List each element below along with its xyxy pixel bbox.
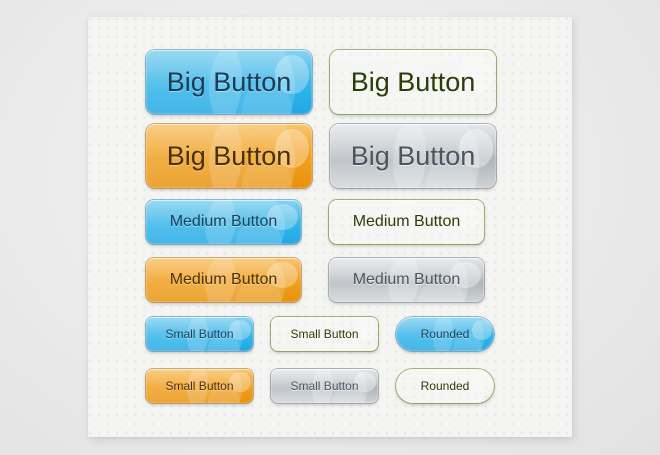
big-button-green-label: Big Button	[351, 67, 476, 98]
medium-button-orange-label: Medium Button	[170, 271, 278, 289]
small-button-blue[interactable]: Small Button	[146, 317, 253, 351]
medium-button-blue[interactable]: Medium Button	[146, 200, 301, 244]
medium-button-blue-label: Medium Button	[170, 213, 278, 231]
small-button-row-1: Small Button Small Button Rounded	[146, 317, 494, 351]
big-button-gray[interactable]: Big Button	[330, 124, 496, 188]
rounded-button-green-label: Rounded	[421, 379, 470, 393]
big-button-gray-label: Big Button	[351, 141, 476, 172]
small-button-orange-label: Small Button	[165, 379, 233, 393]
small-button-row-2: Small Button Small Button Rounded	[146, 369, 494, 403]
medium-button-orange[interactable]: Medium Button	[146, 258, 301, 302]
big-button-orange[interactable]: Big Button	[146, 124, 312, 188]
rounded-button-blue-label: Rounded	[421, 327, 470, 341]
medium-button-green[interactable]: Medium Button	[329, 200, 484, 244]
big-button-row-1: Big Button Big Button	[146, 50, 496, 114]
rounded-button-blue[interactable]: Rounded	[396, 317, 494, 351]
small-button-green-label: Small Button	[290, 327, 358, 341]
medium-button-row-1: Medium Button Medium Button	[146, 200, 484, 244]
big-button-blue[interactable]: Big Button	[146, 50, 312, 114]
small-button-gray[interactable]: Small Button	[271, 369, 378, 403]
medium-button-row-2: Medium Button Medium Button	[146, 258, 484, 302]
big-button-row-2: Big Button Big Button	[146, 124, 496, 188]
small-button-green[interactable]: Small Button	[271, 317, 378, 351]
big-button-green[interactable]: Big Button	[330, 50, 496, 114]
medium-button-gray-label: Medium Button	[353, 271, 461, 289]
big-button-blue-label: Big Button	[167, 67, 292, 98]
small-button-orange[interactable]: Small Button	[146, 369, 253, 403]
big-button-orange-label: Big Button	[167, 141, 292, 172]
medium-button-green-label: Medium Button	[353, 213, 461, 231]
rounded-button-green[interactable]: Rounded	[396, 369, 494, 403]
small-button-blue-label: Small Button	[165, 327, 233, 341]
medium-button-gray[interactable]: Medium Button	[329, 258, 484, 302]
small-button-gray-label: Small Button	[290, 379, 358, 393]
button-showcase-card: Big Button Big Button Big Button Big But…	[88, 17, 572, 437]
